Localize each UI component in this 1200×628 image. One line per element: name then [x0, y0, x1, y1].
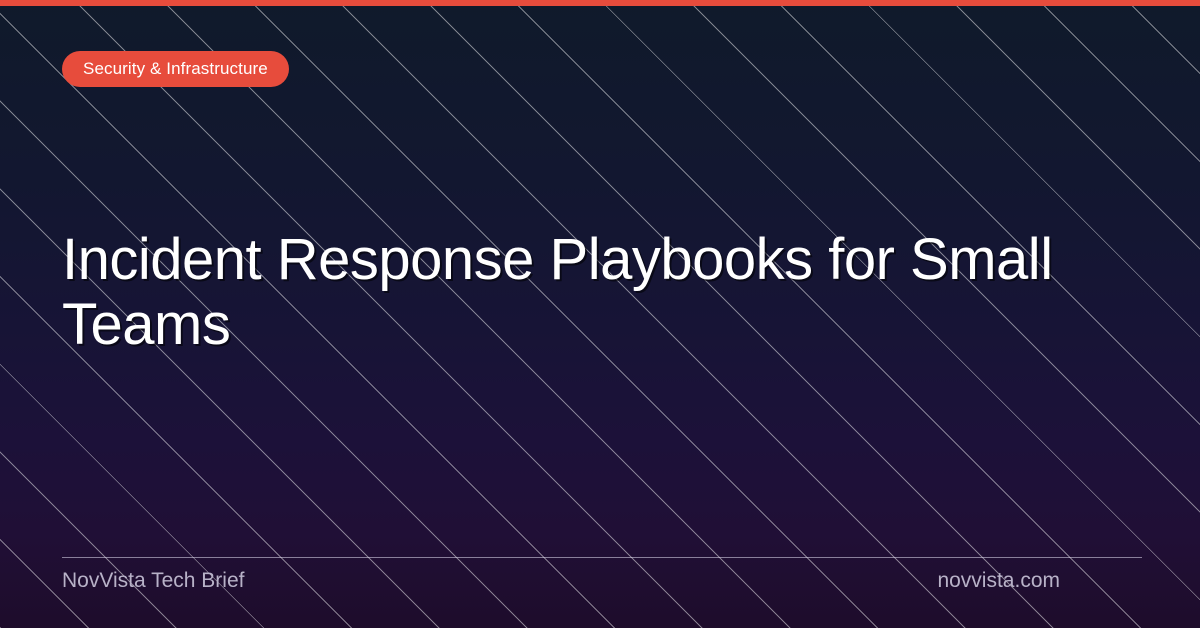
page-title: Incident Response Playbooks for Small Te… [62, 228, 1092, 358]
category-badge: Security & Infrastructure [62, 51, 289, 87]
social-share-card: Security & Infrastructure Incident Respo… [0, 0, 1200, 628]
footer-brand-label: NovVista Tech Brief [62, 569, 244, 593]
footer-divider [62, 557, 1142, 558]
card-content: Security & Infrastructure Incident Respo… [0, 0, 1200, 628]
footer-website-label: novvista.com [937, 569, 1060, 593]
top-accent-bar [0, 0, 1200, 6]
category-badge-label: Security & Infrastructure [83, 59, 268, 79]
